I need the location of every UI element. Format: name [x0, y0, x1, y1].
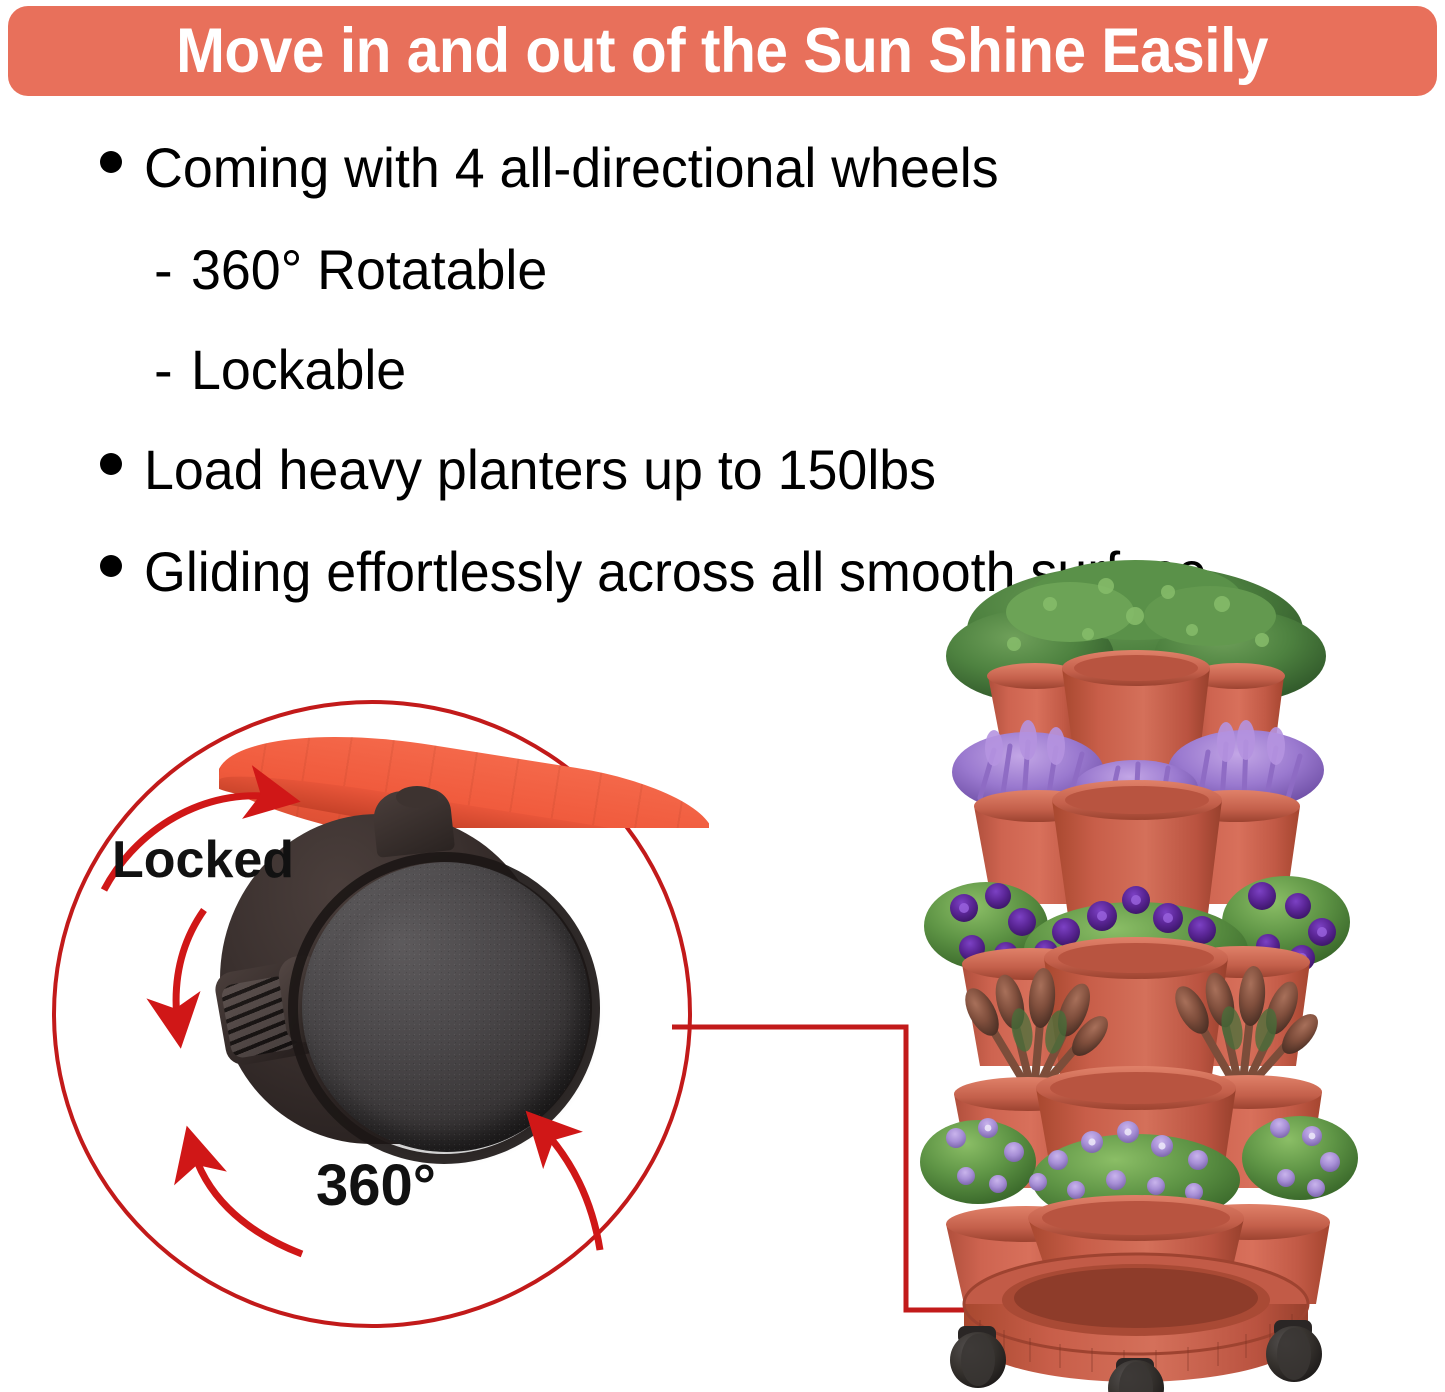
- bullet-dot-icon: [100, 151, 122, 173]
- dash-marker-icon: -: [154, 242, 173, 298]
- page-title: Move in and out of the Sun Shine Easily: [177, 20, 1269, 83]
- bullet-dot-icon: [100, 453, 122, 475]
- feature-label: Load heavy planters up to 150lbs: [144, 442, 936, 498]
- feature-item-3: Load heavy planters up to 150lbs: [100, 442, 1430, 498]
- caster-wheel-rim: [288, 852, 600, 1164]
- feature-label: Coming with 4 all-directional wheels: [144, 140, 999, 196]
- caster-swivel-cap: [396, 786, 438, 808]
- feature-item-1: - 360° Rotatable: [154, 242, 1430, 298]
- feature-label: Lockable: [191, 342, 406, 398]
- dash-marker-icon: -: [154, 342, 173, 398]
- infographic-page: Move in and out of the Sun Shine Easily …: [0, 0, 1445, 1392]
- stacking-planter-tower: [910, 560, 1360, 1392]
- planter-base-slab: [219, 696, 709, 828]
- rotation-label: 360°: [316, 1152, 436, 1219]
- planter-tower-illustration: [910, 560, 1360, 1392]
- bullet-dot-icon: [100, 555, 122, 577]
- feature-item-2: - Lockable: [154, 342, 1430, 398]
- feature-item-0: Coming with 4 all-directional wheels: [100, 140, 1430, 196]
- feature-list: Coming with 4 all-directional wheels - 3…: [100, 140, 1430, 600]
- caddy-caster-right: [1266, 1320, 1322, 1382]
- locked-label: Locked: [112, 830, 294, 890]
- feature-label: 360° Rotatable: [191, 242, 547, 298]
- caster-wheel-callout: Locked 360°: [44, 694, 712, 1342]
- header-banner: Move in and out of the Sun Shine Easily: [8, 6, 1437, 96]
